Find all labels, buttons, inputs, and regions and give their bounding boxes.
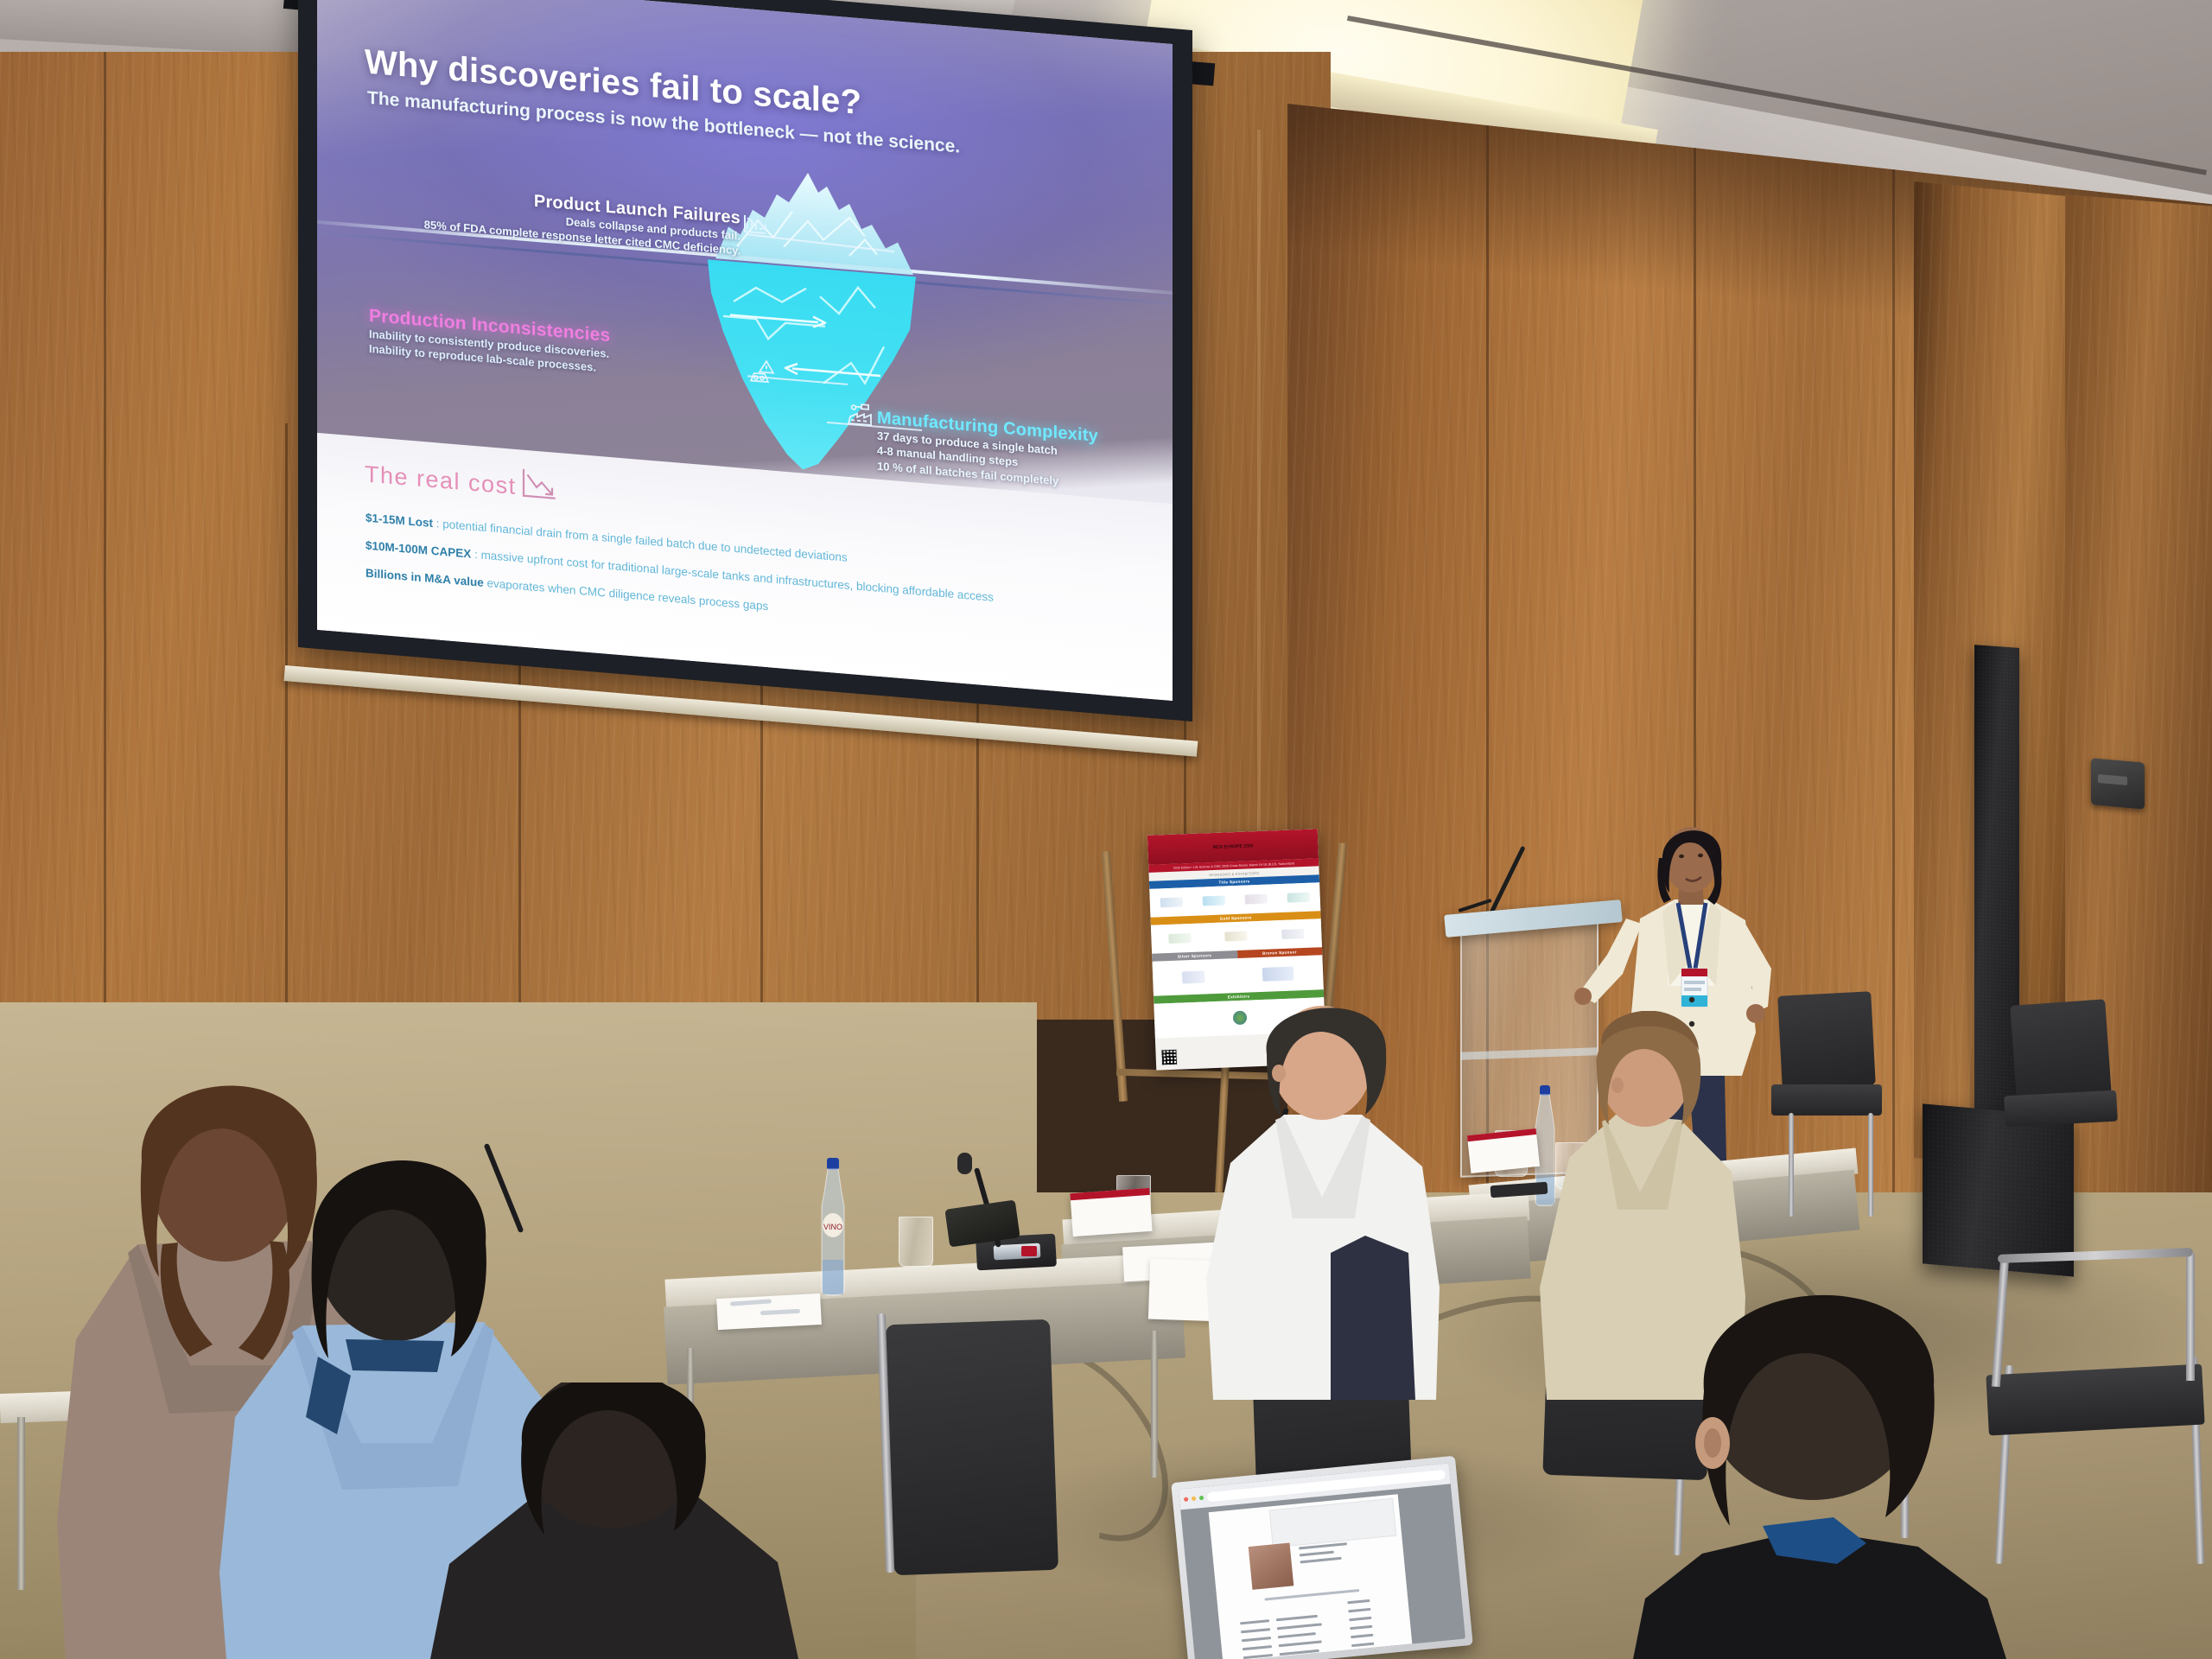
panelist-white-shirt bbox=[1201, 994, 1452, 1400]
tent-card-accent bbox=[1070, 1188, 1149, 1200]
laptop-lid bbox=[1171, 1456, 1473, 1659]
attendee-foreground-center bbox=[415, 1382, 812, 1659]
panel-seam bbox=[1892, 169, 1895, 1319]
sponsor-logo bbox=[1182, 970, 1205, 983]
chair-backrest-tube bbox=[2186, 1251, 2195, 1381]
projection-screen-frame: Why discoveries fail to scale? The manuf… bbox=[298, 0, 1192, 721]
text-line bbox=[1241, 1628, 1270, 1633]
text-line bbox=[1278, 1632, 1316, 1638]
name-tent-card bbox=[1070, 1188, 1152, 1236]
sponsor-logo bbox=[1287, 893, 1310, 903]
sponsor-logo bbox=[1245, 894, 1268, 905]
conference-room-photo: Why discoveries fail to scale? The manuf… bbox=[0, 0, 2212, 1659]
table-leg bbox=[17, 1417, 25, 1590]
text-line bbox=[1276, 1615, 1318, 1622]
sponsor-logo bbox=[1202, 895, 1224, 906]
sponsor-logo bbox=[1160, 897, 1182, 907]
text-line bbox=[1240, 1619, 1269, 1624]
text-line bbox=[1347, 1599, 1370, 1604]
wall-control-panel-icon[interactable] bbox=[2091, 758, 2145, 809]
chair-leg bbox=[1868, 1113, 1873, 1217]
portrait-thumbnail bbox=[1249, 1542, 1294, 1589]
qr-code-icon[interactable] bbox=[1160, 1049, 1178, 1066]
stacking-chair-back[interactable] bbox=[2010, 999, 2111, 1100]
declining-line-chart-icon bbox=[520, 467, 558, 509]
subwoofer-cabinet bbox=[1923, 1103, 2074, 1276]
text-line bbox=[1279, 1640, 1322, 1647]
open-laptop[interactable] bbox=[1171, 1456, 1473, 1659]
factory-icon bbox=[846, 401, 874, 434]
svg-text:VINO: VINO bbox=[823, 1223, 842, 1231]
name-tent-card bbox=[1467, 1128, 1540, 1173]
poster-title: RESI EUROPE 2026 bbox=[1212, 843, 1253, 850]
sponsor-logo bbox=[1262, 966, 1294, 981]
presentation-slide: Why discoveries fail to scale? The manuf… bbox=[317, 0, 1173, 701]
declining-bar-chart-icon bbox=[742, 213, 768, 241]
window-close-icon[interactable] bbox=[1184, 1497, 1188, 1501]
stacking-chair-back[interactable] bbox=[1777, 991, 1876, 1090]
panel-seam bbox=[285, 423, 288, 1020]
text-line bbox=[1243, 1654, 1273, 1659]
text-line bbox=[1300, 1557, 1342, 1564]
projection-screen-surface: Why discoveries fail to scale? The manuf… bbox=[317, 0, 1173, 701]
attendee-foreground-right bbox=[1607, 1270, 2056, 1659]
laptop-screen[interactable] bbox=[1179, 1463, 1465, 1659]
text-line bbox=[1351, 1634, 1373, 1638]
text-line bbox=[1348, 1608, 1370, 1612]
sponsor-logo bbox=[1225, 931, 1248, 942]
text-line bbox=[1351, 1643, 1374, 1647]
column-pa-speaker bbox=[1974, 645, 2019, 1166]
window-minimize-icon[interactable] bbox=[1192, 1496, 1196, 1500]
stacking-chair-seat[interactable] bbox=[1771, 1084, 1882, 1116]
panel-seam bbox=[104, 52, 106, 1020]
text-line bbox=[1242, 1637, 1271, 1642]
window-maximize-icon[interactable] bbox=[1199, 1495, 1204, 1499]
text-line bbox=[1243, 1645, 1272, 1650]
text-line bbox=[1350, 1625, 1372, 1630]
page-header-card bbox=[1269, 1498, 1397, 1548]
text-line bbox=[1277, 1623, 1322, 1630]
chair-back[interactable] bbox=[886, 1319, 1058, 1575]
stacking-chair-seat[interactable] bbox=[2004, 1090, 2118, 1128]
sponsor-logo bbox=[1168, 933, 1191, 944]
text-line bbox=[1349, 1617, 1371, 1621]
text-line bbox=[1300, 1551, 1334, 1557]
table-leg bbox=[1151, 1331, 1158, 1478]
water-bottle[interactable]: VINO bbox=[815, 1158, 851, 1296]
text-line bbox=[1280, 1649, 1319, 1656]
webpage-content bbox=[1209, 1494, 1413, 1659]
section-heading-line bbox=[1264, 1589, 1359, 1601]
microphone-capsule bbox=[957, 1153, 972, 1174]
microphone-talk-button[interactable] bbox=[1021, 1246, 1037, 1256]
chair-leg bbox=[1789, 1113, 1794, 1217]
drinking-glass[interactable] bbox=[899, 1217, 933, 1267]
sponsor-logo bbox=[1281, 929, 1304, 939]
